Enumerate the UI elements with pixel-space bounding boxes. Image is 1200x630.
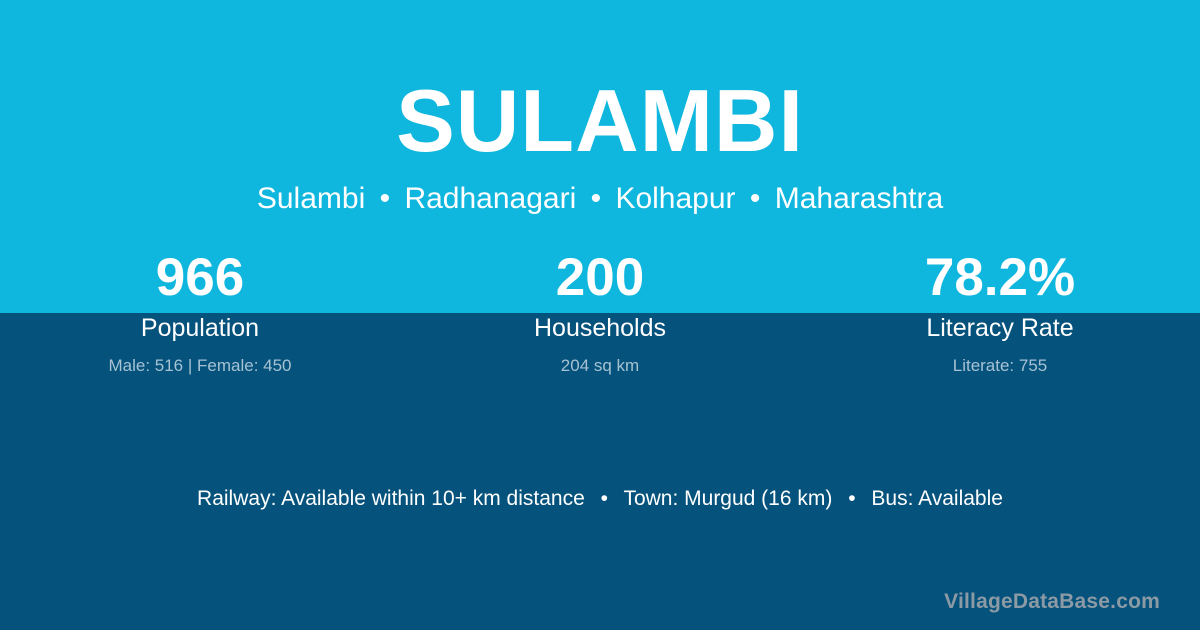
village-info-card: SULAMBI Sulambi • Radhanagari • Kolhapur… xyxy=(0,0,1200,630)
stats-row: 966 Population Male: 516 | Female: 450 2… xyxy=(0,243,1200,377)
amenity-railway: Railway: Available within 10+ km distanc… xyxy=(197,487,585,510)
stat-value: 966 xyxy=(0,243,400,313)
breadcrumb-separator-icon: • xyxy=(374,182,397,215)
stat-label: Households xyxy=(400,313,800,343)
breadcrumb: Sulambi • Radhanagari • Kolhapur • Mahar… xyxy=(0,182,1200,216)
breadcrumb-item-taluka: Radhanagari xyxy=(404,182,576,215)
stat-population: 966 Population Male: 516 | Female: 450 xyxy=(0,243,400,377)
site-watermark: VillageDataBase.com xyxy=(944,590,1160,614)
stat-households: 200 Households 204 sq km xyxy=(400,243,800,377)
stat-subtext: Male: 516 | Female: 450 xyxy=(0,355,400,377)
stat-label: Literacy Rate xyxy=(800,313,1200,343)
stat-subtext: 204 sq km xyxy=(400,355,800,377)
stat-label: Population xyxy=(0,313,400,343)
amenities-line: Railway: Available within 10+ km distanc… xyxy=(0,484,1200,514)
breadcrumb-separator-icon: • xyxy=(585,182,608,215)
amenity-bus: Bus: Available xyxy=(871,487,1003,510)
stat-value: 78.2% xyxy=(800,243,1200,313)
stat-literacy-rate: 78.2% Literacy Rate Literate: 755 xyxy=(800,243,1200,377)
amenity-town: Town: Murgud (16 km) xyxy=(623,487,832,510)
stat-value: 200 xyxy=(400,243,800,313)
breadcrumb-item-state: Maharashtra xyxy=(775,182,943,215)
stat-subtext: Literate: 755 xyxy=(800,355,1200,377)
amenity-separator-icon: • xyxy=(591,487,618,510)
amenity-separator-icon: • xyxy=(838,487,865,510)
breadcrumb-item-village: Sulambi xyxy=(257,182,365,215)
breadcrumb-item-district: Kolhapur xyxy=(615,182,735,215)
page-title: SULAMBI xyxy=(0,77,1200,165)
breadcrumb-separator-icon: • xyxy=(744,182,767,215)
